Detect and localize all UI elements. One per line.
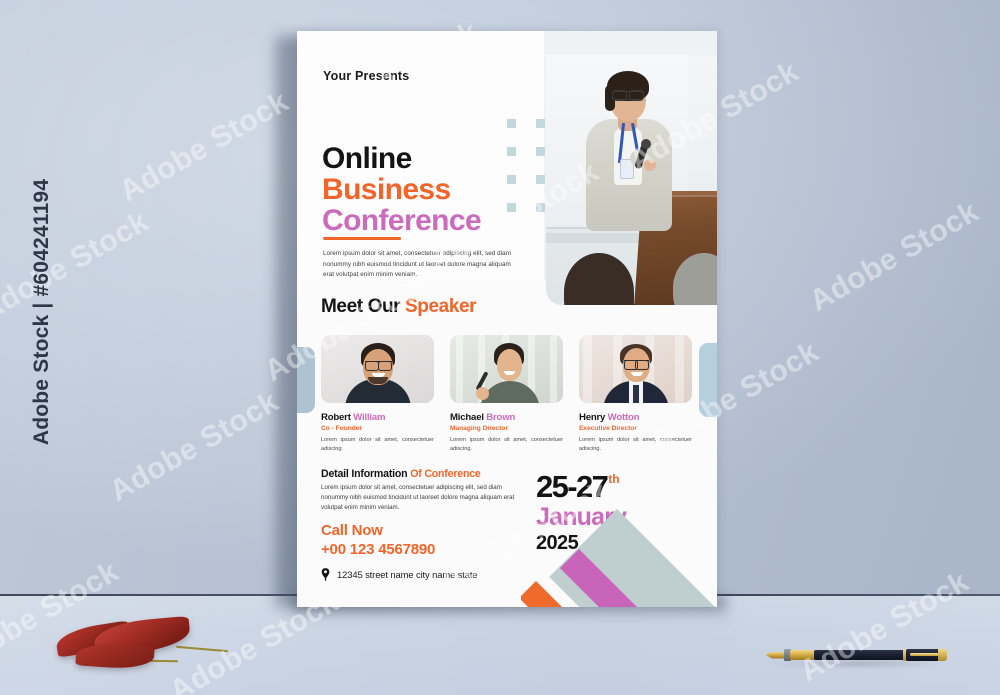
hero-photo-speaker-at-podium [546,55,717,305]
right-blue-accent-shape [699,343,717,417]
speakers-heading-accent: Speaker [405,296,476,317]
speaker-role: Executive Director [579,425,692,432]
stock-id-label: Adobe Stock | #604241194 [30,167,54,457]
call-now-label: Call Now [321,522,383,539]
speaker-bio: Lorem ipsum dolor sit amet, consectetuer… [450,436,563,454]
address-row: 12345 street name city name state [321,568,478,581]
speaker-first-name: Robert [321,412,353,423]
speaker-last-name: Wotton [608,412,640,423]
flyer-headline: Online Business Conference [322,143,481,236]
speaker-first-name: Michael [450,412,486,423]
detail-information-paragraph: Lorem ipsum dolor sit amet, consectetuer… [321,483,521,514]
speaker-name: Henry Wotton [579,412,692,423]
speaker-photo [579,335,692,403]
speakers-heading-prefix: Meet Our [321,296,405,317]
address-text: 12345 street name city name state [337,569,478,580]
detail-heading-prefix: Detail Information [321,468,410,480]
corner-diagonal-stripes [521,457,717,607]
speaker-bio: Lorem ipsum dolor sit amet, consectetuer… [321,436,434,454]
speakers-heading: Meet Our Speaker [321,296,476,318]
flyer-eyebrow: Your Presents [323,69,409,83]
speaker-bio: Lorem ipsum dolor sit amet, consectetuer… [579,436,692,454]
speaker-last-name: William [353,412,385,423]
headline-line-3: Conference [322,205,481,236]
speaker-card[interactable]: Robert William Co - Founder Lorem ipsum … [321,335,434,454]
detail-heading-accent: Of Conference [410,468,480,480]
speaker-card[interactable]: Henry Wotton Executive Director Lorem ip… [579,335,692,454]
conference-flyer[interactable]: Your Presents Online Business Conference… [297,31,717,607]
headline-underline-rule [323,237,401,240]
phone-number[interactable]: +00 123 4567890 [321,541,435,558]
location-pin-icon [321,568,330,581]
red-autumn-leaves [46,620,236,682]
speaker-name: Robert William [321,412,434,423]
speaker-first-name: Henry [579,412,608,423]
mockup-scene: Your Presents Online Business Conference… [0,0,1000,695]
speakers-list: Robert William Co - Founder Lorem ipsum … [321,335,693,454]
speaker-card[interactable]: Michael Brown Managing Director Lorem ip… [450,335,563,454]
headline-line-1: Online [322,143,481,174]
fountain-pen [760,646,948,664]
speaker-role: Managing Director [450,425,563,432]
speaker-name: Michael Brown [450,412,563,423]
left-blue-accent-shape [297,347,315,413]
speaker-role: Co - Founder [321,425,434,432]
speaker-last-name: Brown [486,412,515,423]
speaker-photo [450,335,563,403]
detail-information-heading: Detail Information Of Conference [321,468,481,480]
speaker-photo [321,335,434,403]
flyer-lead-paragraph: Lorem ipsum dolor sit amet, consectetuer… [323,249,523,281]
headline-line-2: Business [322,174,481,205]
